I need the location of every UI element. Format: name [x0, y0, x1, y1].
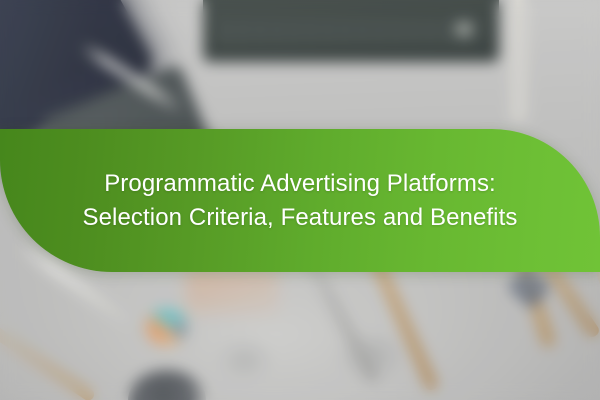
title-banner: Programmatic Advertising Platforms: Sele…	[0, 129, 600, 272]
title-line-2: Selection Criteria, Features and Benefit…	[83, 201, 518, 235]
pie-chart-printout	[146, 308, 188, 346]
keyboard-object	[203, 0, 499, 62]
title-line-1: Programmatic Advertising Platforms:	[104, 167, 496, 201]
keyboard-keys	[221, 20, 481, 45]
keyboard-highlight	[456, 22, 472, 36]
paper-edge	[506, 0, 532, 122]
paper-note	[186, 268, 278, 314]
hero-banner-image: Programmatic Advertising Platforms: Sele…	[0, 0, 600, 400]
desk-smudge-secondary	[216, 338, 274, 382]
